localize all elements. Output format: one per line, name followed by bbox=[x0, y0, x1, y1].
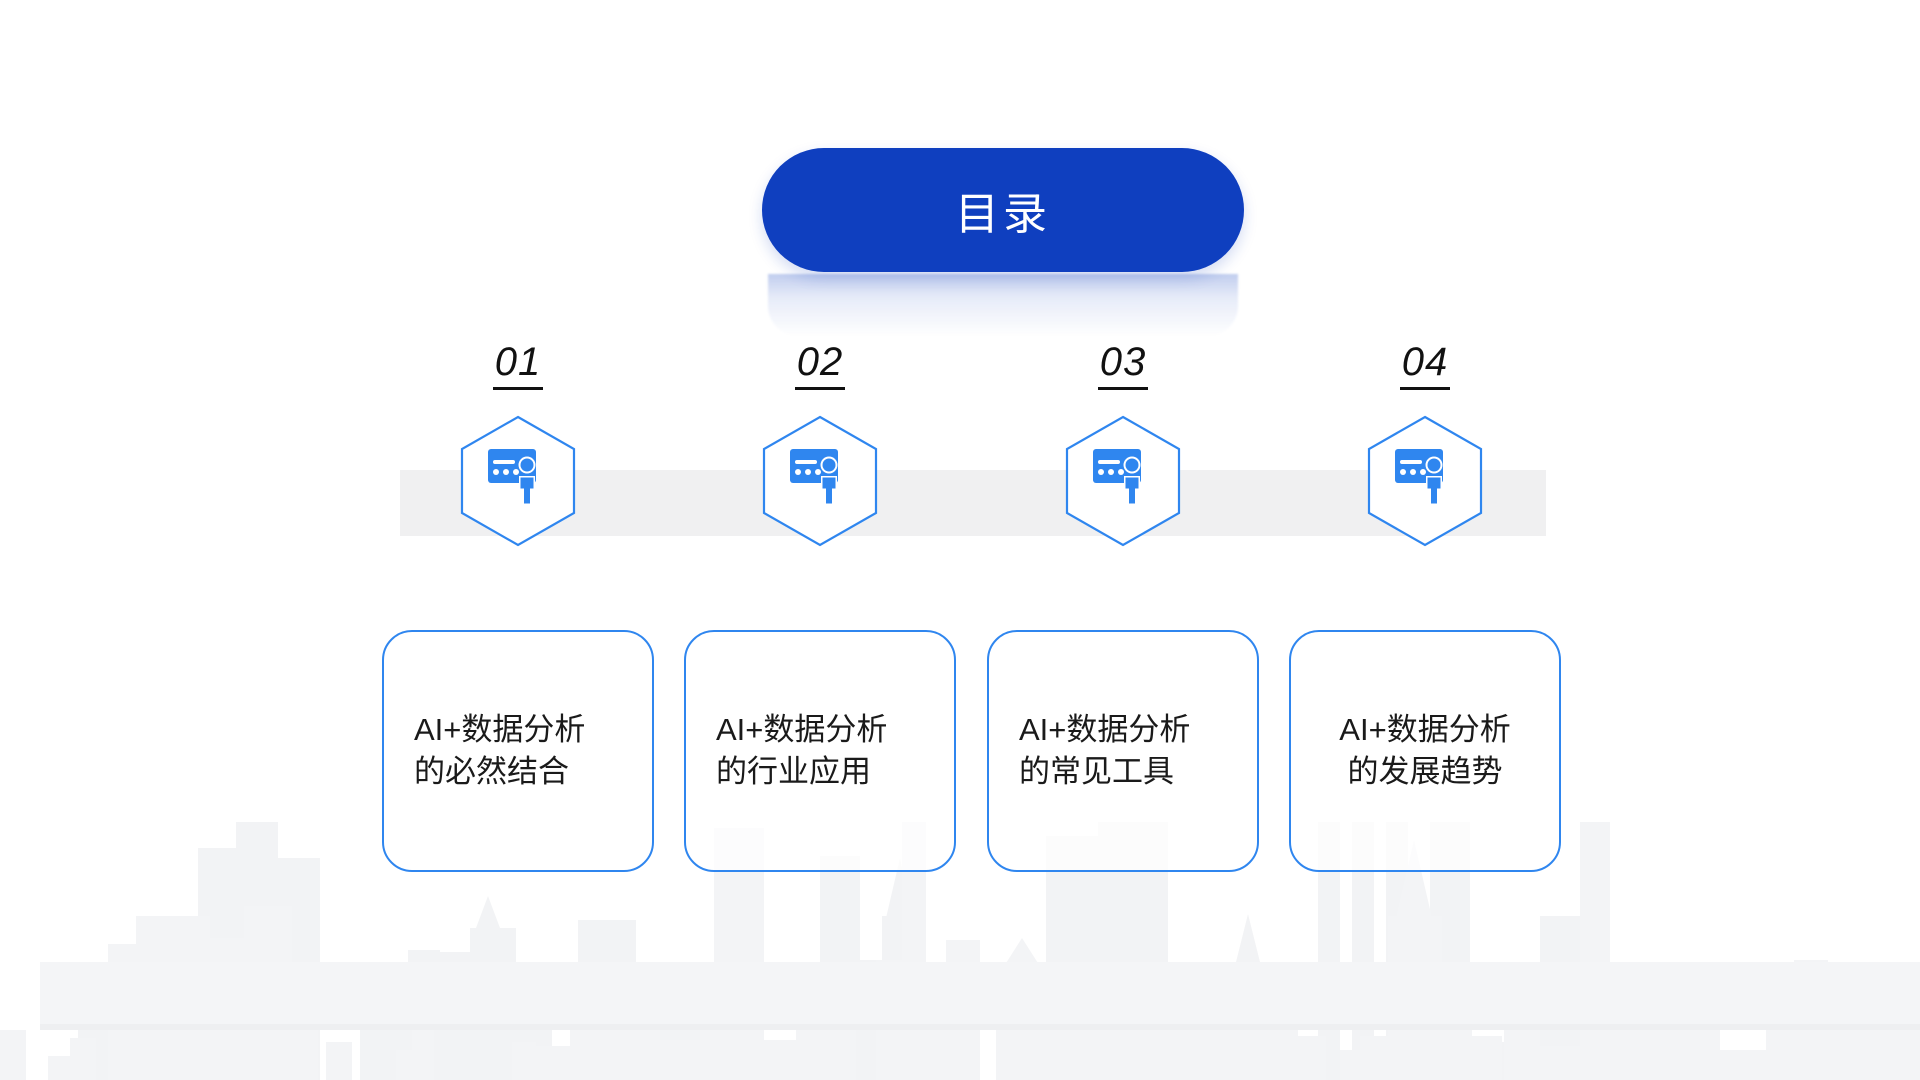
agenda-card-1[interactable]: AI+数据分析 的必然结合 bbox=[382, 630, 654, 872]
item-number-3: 03 bbox=[988, 340, 1258, 385]
agenda-card-label-2: AI+数据分析 的行业应用 bbox=[686, 709, 954, 793]
hex-badge-1[interactable] bbox=[460, 415, 576, 547]
agenda-card-label-4: AI+数据分析 的发展趋势 bbox=[1291, 709, 1559, 793]
agenda-card-3[interactable]: AI+数据分析 的常见工具 bbox=[987, 630, 1259, 872]
title-pill-reflection bbox=[768, 274, 1238, 336]
agenda-card-label-1: AI+数据分析 的必然结合 bbox=[384, 709, 652, 793]
skyline-ground-band bbox=[40, 962, 1920, 1028]
agenda-card-label-3: AI+数据分析 的常见工具 bbox=[989, 709, 1257, 793]
item-number-4: 04 bbox=[1290, 340, 1560, 385]
hex-badge-3[interactable] bbox=[1065, 415, 1181, 547]
skyline-ground-baseline bbox=[40, 1024, 1920, 1030]
item-number-1: 01 bbox=[383, 340, 653, 385]
page-title: 目录 bbox=[762, 148, 1244, 272]
agenda-card-4[interactable]: AI+数据分析 的发展趋势 bbox=[1289, 630, 1561, 872]
hex-badge-4[interactable] bbox=[1367, 415, 1483, 547]
slide-canvas: 目录 01 AI+数据分析 bbox=[0, 0, 1920, 1080]
item-number-2: 02 bbox=[685, 340, 955, 385]
agenda-card-2[interactable]: AI+数据分析 的行业应用 bbox=[684, 630, 956, 872]
city-skyline-decoration bbox=[0, 820, 1920, 1080]
hex-badge-2[interactable] bbox=[762, 415, 878, 547]
title-pill: 目录 bbox=[762, 148, 1244, 272]
